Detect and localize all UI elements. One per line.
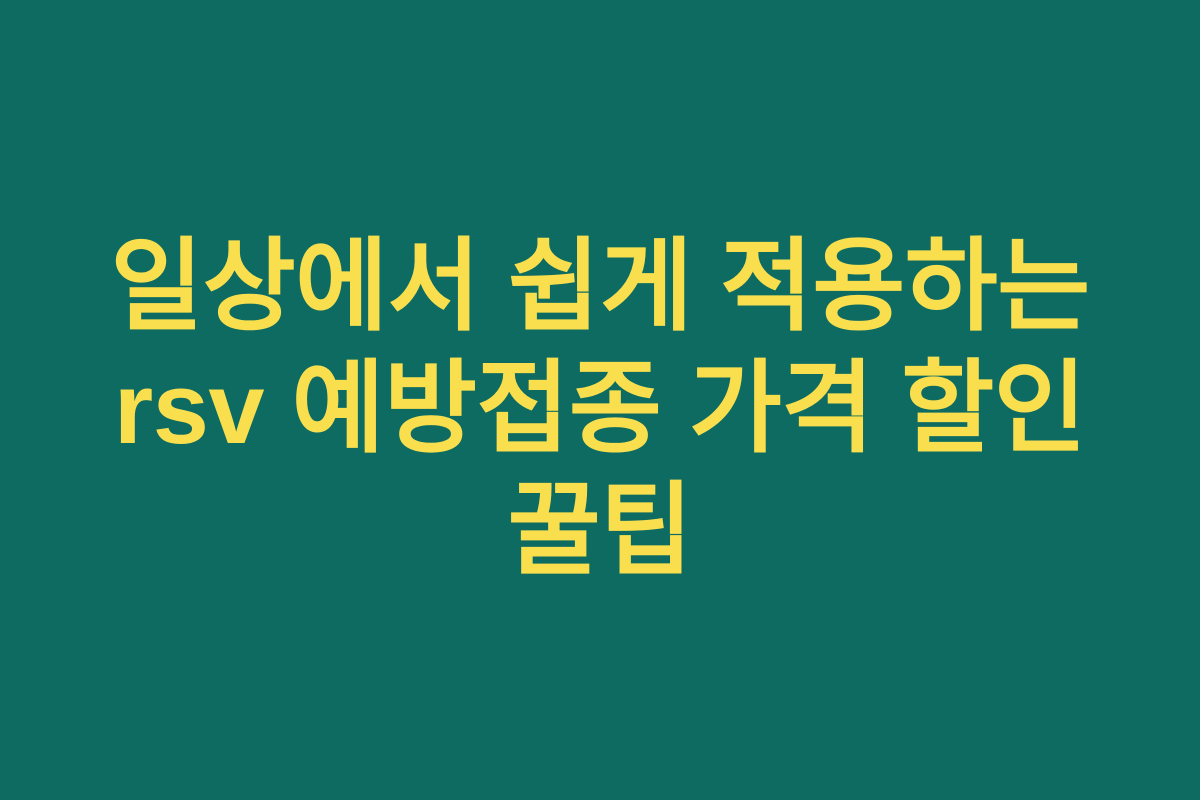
title-line-3: 꿀팁	[40, 470, 1160, 592]
title-line-2: rsv 예방접종 가격 할인	[40, 348, 1160, 470]
title-line-1: 일상에서 쉽게 적용하는	[40, 226, 1160, 348]
title-block: 일상에서 쉽게 적용하는 rsv 예방접종 가격 할인 꿀팁	[40, 226, 1160, 592]
thumbnail-canvas: 일상에서 쉽게 적용하는 rsv 예방접종 가격 할인 꿀팁	[0, 0, 1200, 800]
